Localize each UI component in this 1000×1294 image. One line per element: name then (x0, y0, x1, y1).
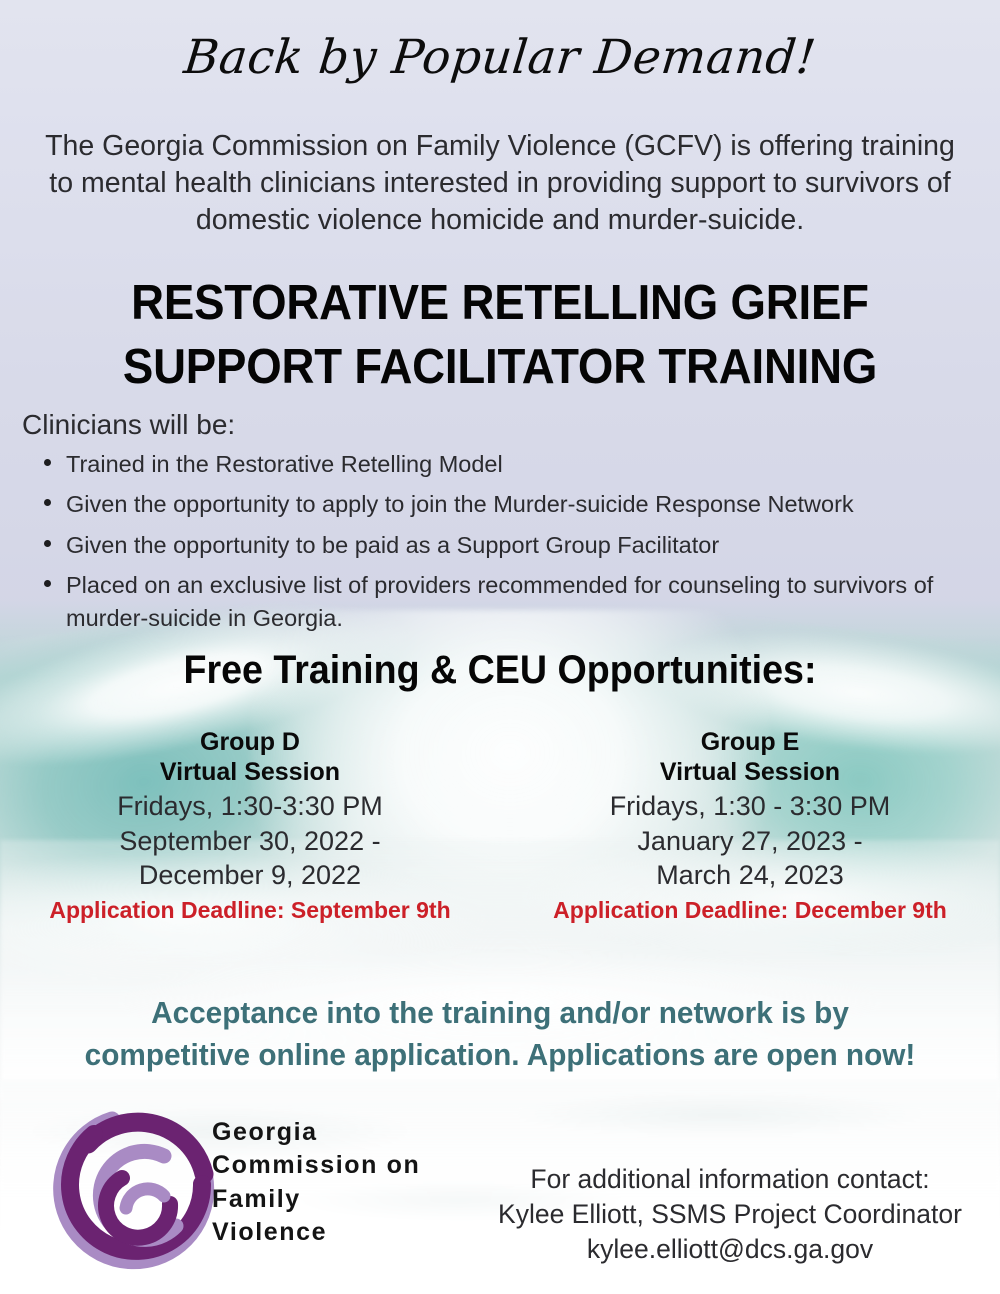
acceptance-statement: Acceptance into the training and/or netw… (49, 992, 951, 1076)
group-date-start: September 30, 2022 - (0, 824, 500, 859)
application-deadline: Application Deadline: September 9th (0, 897, 500, 925)
purple-spiral-logo-icon (52, 1108, 222, 1276)
flyer-page: Back by Popular Demand! The Georgia Comm… (0, 0, 1000, 1294)
group-mode: Virtual Session (500, 758, 1000, 788)
group-time: Fridays, 1:30 - 3:30 PM (500, 789, 1000, 824)
session-columns: Group D Virtual Session Fridays, 1:30-3:… (0, 728, 1000, 924)
logo-word-line-3: Family (212, 1183, 482, 1216)
logo-word-line-1: Georgia (212, 1116, 482, 1149)
group-date-end: December 9, 2022 (0, 858, 500, 893)
contact-email[interactable]: kylee.elliott@dcs.ga.gov (470, 1232, 990, 1267)
list-item: Given the opportunity to be paid as a Su… (66, 529, 1000, 562)
contact-block: For additional information contact: Kyle… (470, 1162, 990, 1267)
session-column-group-d: Group D Virtual Session Fridays, 1:30-3:… (0, 728, 500, 924)
logo-word-line-2: Commission on (212, 1149, 482, 1182)
contact-intro: For additional information contact: (470, 1162, 990, 1197)
acceptance-line-1: Acceptance into the training and/or netw… (49, 992, 951, 1034)
list-item: Placed on an exclusive list of providers… (66, 569, 1000, 636)
footer: Georgia Commission on Family Violence Fo… (0, 1100, 1000, 1294)
logo-wordmark: Georgia Commission on Family Violence (212, 1116, 482, 1249)
benefits-list: Trained in the Restorative Retelling Mod… (34, 448, 1000, 643)
group-mode: Virtual Session (0, 758, 500, 788)
logo-word-line-4: Violence (212, 1216, 482, 1249)
acceptance-line-2: competitive online application. Applicat… (49, 1034, 951, 1076)
intro-paragraph: The Georgia Commission on Family Violenc… (30, 128, 970, 239)
group-date-end: March 24, 2023 (500, 858, 1000, 893)
page-title-line-1: RESTORATIVE RETELLING GRIEF (35, 272, 965, 336)
section-heading-free-training: Free Training & CEU Opportunities: (30, 648, 970, 692)
group-time: Fridays, 1:30-3:30 PM (0, 789, 500, 824)
group-name: Group E (500, 728, 1000, 758)
page-title-line-2: SUPPORT FACILITATOR TRAINING (35, 336, 965, 400)
page-title: RESTORATIVE RETELLING GRIEF SUPPORT FACI… (35, 272, 965, 399)
script-header: Back by Popular Demand! (0, 34, 1000, 81)
session-column-group-e: Group E Virtual Session Fridays, 1:30 - … (500, 728, 1000, 924)
benefits-list-label: Clinicians will be: (22, 408, 235, 442)
list-item: Given the opportunity to apply to join t… (66, 488, 1000, 521)
group-date-start: January 27, 2023 - (500, 824, 1000, 859)
application-deadline: Application Deadline: December 9th (500, 897, 1000, 925)
contact-name: Kylee Elliott, SSMS Project Coordinator (470, 1197, 990, 1232)
list-item: Trained in the Restorative Retelling Mod… (66, 448, 1000, 481)
group-name: Group D (0, 728, 500, 758)
